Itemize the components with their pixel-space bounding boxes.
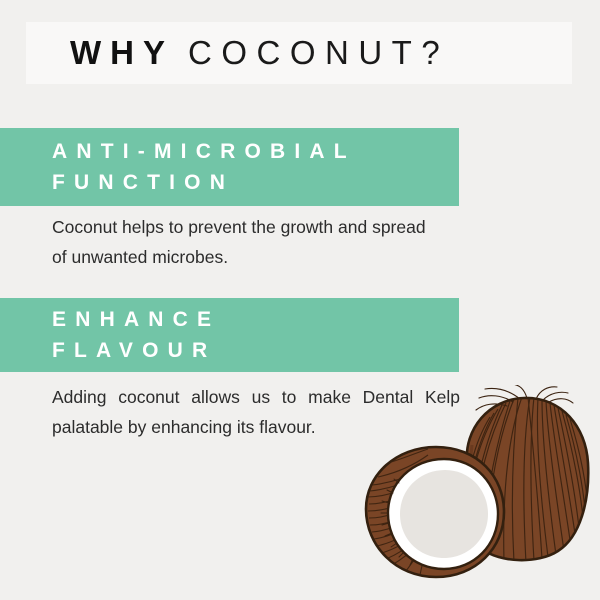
coconut-whole-shading <box>470 445 483 549</box>
coconut-whole-fibers <box>467 397 588 563</box>
section-body-line-2: of unwanted microbes. <box>52 242 460 272</box>
coconut-cavity <box>400 470 488 558</box>
coconut-whole-stray-hairs <box>476 385 573 410</box>
coconut-half-fibers <box>368 449 428 575</box>
section-heading-line-2: FUNCTION <box>52 167 459 198</box>
title-band: WHYCOCONUT? <box>26 22 572 84</box>
page-title-light: COCONUT? <box>188 34 449 71</box>
page-title-strong: WHY <box>70 34 174 71</box>
section-heading-band-enhance-flavour: ENHANCE FLAVOUR <box>0 298 459 372</box>
page-title: WHYCOCONUT? <box>70 36 449 69</box>
poster-canvas: WHYCOCONUT? ANTI-MICROBIAL FUNCTION Coco… <box>0 0 600 600</box>
section-body-line-1: Adding coconut allows us to make Dental … <box>52 382 460 412</box>
coconut-flesh <box>388 459 498 569</box>
section-body-line-2: palatable by enhancing its flavour. <box>52 412 460 442</box>
section-body-enhance-flavour: Adding coconut allows us to make Dental … <box>52 382 460 442</box>
section-body-line-1: Coconut helps to prevent the growth and … <box>52 212 460 242</box>
coconut-whole-husk <box>467 398 588 560</box>
section-body-anti-microbial: Coconut helps to prevent the growth and … <box>52 212 460 272</box>
coconut-flesh-edge-hairs <box>381 479 413 565</box>
coconut-half <box>366 447 504 577</box>
section-heading-line-1: ENHANCE <box>52 304 459 335</box>
section-heading-line-2: FLAVOUR <box>52 335 459 366</box>
section-heading-line-1: ANTI-MICROBIAL <box>52 136 459 167</box>
section-heading-band-anti-microbial: ANTI-MICROBIAL FUNCTION <box>0 128 459 206</box>
coconut-half-husk <box>366 447 504 577</box>
coconut-whole <box>467 385 588 563</box>
